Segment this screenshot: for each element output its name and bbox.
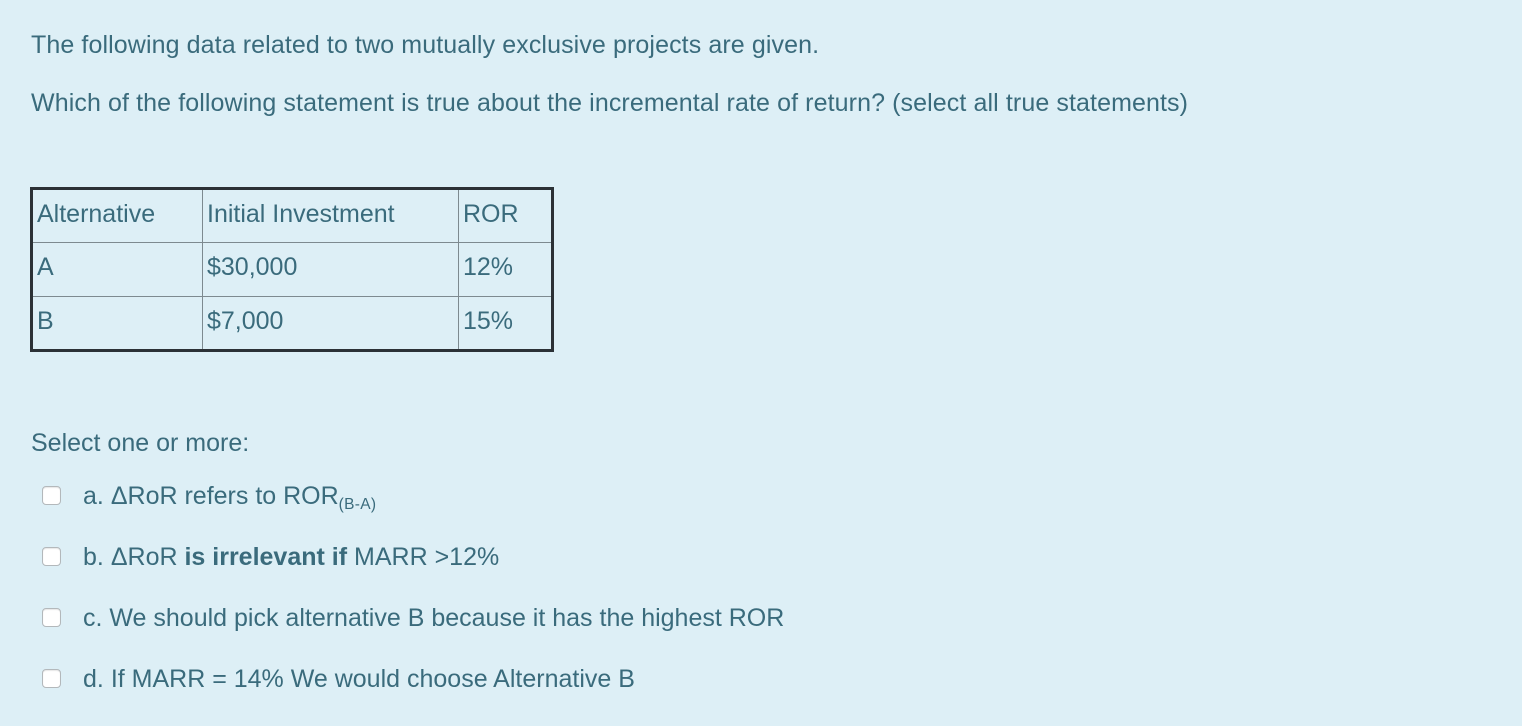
alternatives-table: Alternative Initial Investment ROR A $30… (30, 187, 554, 352)
table-row: B $7,000 15% (32, 297, 553, 351)
cell-investment-b: $7,000 (203, 297, 459, 351)
cell-investment-a: $30,000 (203, 243, 459, 297)
option-d-label: d. If MARR = 14% We would choose Alterna… (83, 657, 635, 701)
table-header-alternative: Alternative (32, 189, 203, 243)
option-c-label: c. We should pick alternative B because … (83, 596, 784, 640)
option-b-checkbox[interactable] (42, 547, 61, 566)
cell-alternative-b: B (32, 297, 203, 351)
cell-alternative-a: A (32, 243, 203, 297)
option-b-label: b. ΔRoR is irrelevant if MARR >12% (83, 535, 499, 579)
cell-ror-b: 15% (459, 297, 553, 351)
option-b-text-before: ΔRoR (111, 543, 185, 571)
option-c-checkbox[interactable] (42, 608, 61, 627)
option-b-letter: b. (83, 543, 104, 571)
list-item[interactable]: a. ΔRoR refers to ROR(B-A) (31, 474, 1431, 535)
option-a-label: a. ΔRoR refers to ROR(B-A) (83, 474, 376, 522)
list-item[interactable]: b. ΔRoR is irrelevant if MARR >12% (31, 535, 1431, 596)
list-item[interactable]: d. If MARR = 14% We would choose Alterna… (31, 657, 1431, 718)
table-header-row: Alternative Initial Investment ROR (32, 189, 553, 243)
option-d-checkbox[interactable] (42, 669, 61, 688)
data-table-container: Alternative Initial Investment ROR A $30… (30, 187, 554, 352)
table-row: A $30,000 12% (32, 243, 553, 297)
option-a-subscript: (B-A) (339, 496, 377, 513)
option-a-checkbox[interactable] (42, 486, 61, 505)
question-page: The following data related to two mutual… (0, 0, 1522, 726)
option-d-letter: d. (83, 665, 104, 693)
answer-options-list: a. ΔRoR refers to ROR(B-A) b. ΔRoR is ir… (31, 474, 1431, 718)
cell-ror-a: 12% (459, 243, 553, 297)
option-b-bold-text: is irrelevant if (184, 543, 347, 571)
table-header-ror: ROR (459, 189, 553, 243)
option-c-text: We should pick alternative B because it … (109, 604, 784, 632)
prompt-line-2: Which of the following statement is true… (31, 74, 1491, 132)
option-a-text: ΔRoR refers to ROR (111, 482, 339, 510)
table-header-initial-investment: Initial Investment (203, 189, 459, 243)
list-item[interactable]: c. We should pick alternative B because … (31, 596, 1431, 657)
option-c-letter: c. (83, 604, 102, 632)
option-a-letter: a. (83, 482, 104, 510)
select-instruction: Select one or more: (31, 427, 249, 459)
option-b-text-after: MARR >12% (347, 543, 499, 571)
option-d-text: If MARR = 14% We would choose Alternativ… (111, 665, 635, 693)
prompt-line-1: The following data related to two mutual… (31, 16, 1491, 74)
question-prompt: The following data related to two mutual… (31, 16, 1491, 132)
